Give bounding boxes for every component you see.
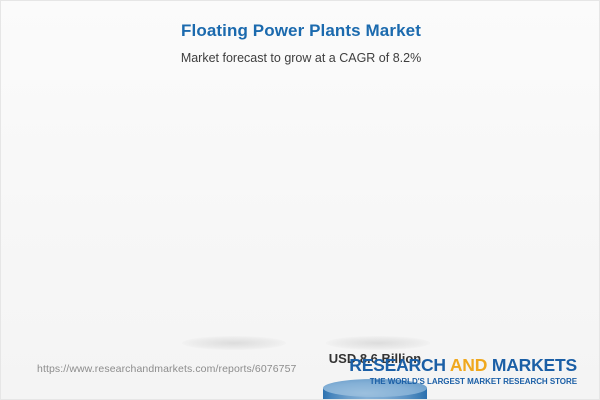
logo-tagline: THE WORLD'S LARGEST MARKET RESEARCH STOR… bbox=[349, 376, 577, 387]
market-infographic-card: Floating Power Plants Market Market fore… bbox=[0, 0, 600, 400]
logo-wordmark: RESEARCH AND MARKETS bbox=[349, 355, 577, 375]
chart-plot-area: USD 3.9 Billion 2024 USD 8.6 Billion bbox=[1, 91, 600, 346]
footer: https://www.researchandmarkets.com/repor… bbox=[1, 345, 600, 399]
research-and-markets-logo[interactable]: RESEARCH AND MARKETS THE WORLD'S LARGEST… bbox=[349, 355, 577, 387]
chart-subtitle: Market forecast to grow at a CAGR of 8.2… bbox=[1, 50, 600, 66]
page-title: Floating Power Plants Market bbox=[1, 21, 600, 41]
logo-word-research: RESEARCH bbox=[349, 355, 446, 375]
logo-word-and: AND bbox=[446, 355, 492, 375]
logo-word-markets: MARKETS bbox=[492, 355, 577, 375]
report-url-link[interactable]: https://www.researchandmarkets.com/repor… bbox=[37, 363, 296, 376]
chart-header: Floating Power Plants Market Market fore… bbox=[1, 21, 600, 66]
